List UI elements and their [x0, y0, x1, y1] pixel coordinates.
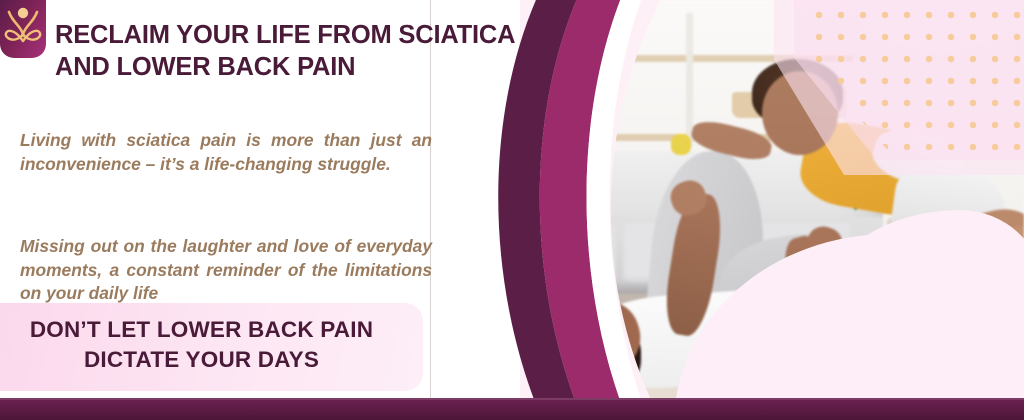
bottom-bar-highlight	[0, 398, 1024, 400]
cta-panel: DON’T LET LOWER BACK PAIN DICTATE YOUR D…	[0, 303, 423, 391]
cta-text: DON’T LET LOWER BACK PAIN DICTATE YOUR D…	[0, 315, 403, 375]
brand-logo[interactable]	[0, 0, 46, 58]
body-paragraph-1: Living with sciatica pain is more than j…	[20, 129, 432, 175]
page-title: RECLAIM YOUR LIFE FROM SCIATICA AND LOWE…	[55, 19, 525, 84]
headline-line-2: AND LOWER BACK PAIN	[55, 53, 355, 81]
cta-line-2: DICTATE YOUR DAYS	[0, 345, 403, 375]
content-column: RECLAIM YOUR LIFE FROM SCIATICA AND LOWE…	[0, 0, 540, 420]
bottom-accent-bar	[0, 398, 1024, 420]
cta-line-1: DON’T LET LOWER BACK PAIN	[30, 317, 373, 342]
person-wellness-logo-icon	[0, 0, 46, 58]
photo-panel	[520, 0, 1024, 420]
body-paragraph-2: Missing out on the laughter and love of …	[20, 235, 432, 304]
promo-banner: RECLAIM YOUR LIFE FROM SCIATICA AND LOWE…	[0, 0, 1024, 420]
headline-line-1: RECLAIM YOUR LIFE FROM SCIATICA	[55, 21, 515, 49]
